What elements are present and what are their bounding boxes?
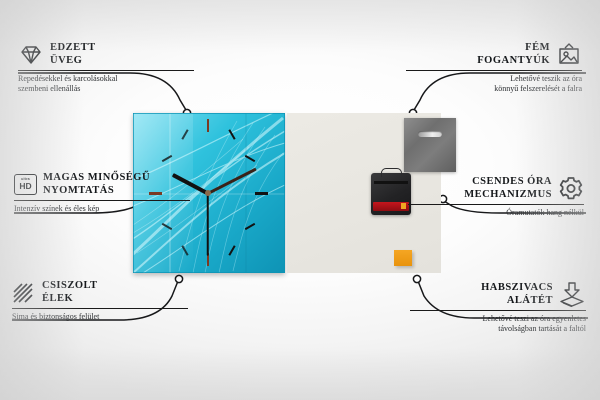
divider: [406, 70, 582, 71]
feature-desc-line1: Óramutatók hang nélkül: [408, 208, 584, 218]
divider: [18, 70, 194, 71]
feature-title-line1: CSISZOLT: [42, 280, 98, 293]
feature-silent-mechanism: CSENDES ÓRA MECHANIZMUS Óramutatók hang …: [408, 176, 584, 218]
feature-polished-edges: CSISZOLT ÉLEK Sima és biztonságos felüle…: [12, 280, 188, 322]
feature-tempered-glass: EDZETT ÜVEG Repedésekkel és karcolásokka…: [18, 42, 194, 94]
infographic-canvas: EDZETT ÜVEG Repedésekkel és karcolásokka…: [0, 0, 600, 400]
feature-title-line2: MECHANIZMUS: [464, 189, 552, 202]
feature-desc-line1: Intenzív színek és éles kép: [14, 204, 190, 214]
feature-foam-pad: HABSZIVACS ALÁTÉT Lehetővé teszi az óra …: [410, 282, 586, 334]
foam-pad-square: [394, 250, 412, 266]
hanger-slot: [418, 131, 442, 137]
feature-title-line2: ÉLEK: [42, 293, 98, 306]
feature-desc-line1: Sima és biztonságos felület: [12, 312, 188, 322]
feature-title-line1: HABSZIVACS: [481, 282, 553, 295]
polished-edge-icon: [12, 282, 36, 304]
clock-tick: [207, 119, 209, 132]
mechanism-strip: [374, 181, 408, 184]
feature-desc-line2: könnyű felszerelését a falra: [406, 84, 582, 94]
mechanism-label: [373, 202, 409, 211]
divider: [14, 200, 190, 201]
foam-pad-icon: [559, 282, 586, 307]
feature-title-line1: EDZETT: [50, 42, 96, 55]
clock-tick: [255, 192, 268, 195]
diamond-icon: [18, 45, 44, 65]
ultra-hd-icon: ultra HD: [14, 174, 37, 195]
picture-hanger-icon: [556, 43, 582, 67]
clock-mechanism-box: [371, 173, 411, 215]
gear-icon: [558, 176, 584, 201]
divider: [408, 204, 584, 205]
feature-title-line2: NYOMTATÁS: [43, 185, 150, 198]
feature-title-line1: CSENDES ÓRA: [464, 176, 552, 189]
mechanism-handle: [381, 168, 402, 177]
feature-desc-line1: Lehetővé teszik az óra: [406, 74, 582, 84]
divider: [410, 310, 586, 311]
clock-center-cap: [205, 190, 211, 196]
metal-hanger-plate: [404, 118, 456, 172]
divider: [12, 308, 188, 309]
clock-second-hand: [207, 193, 209, 255]
feature-title-line1: FÉM: [477, 42, 550, 55]
feature-desc-line2: távolságban tartását a faltól: [410, 324, 586, 334]
ultra-hd-large-text: HD: [19, 182, 31, 191]
feature-metal-hangers: FÉM FOGANTYÚK Lehetővé teszik az óra kön…: [406, 42, 582, 94]
feature-title-line2: FOGANTYÚK: [477, 55, 550, 68]
feature-desc-line1: Repedésekkel és karcolásokkal: [18, 74, 194, 84]
feature-title-line1: MAGAS MINŐSÉGŰ: [43, 172, 150, 185]
feature-title-line2: ÜVEG: [50, 55, 96, 68]
feature-high-quality-print: ultra HD MAGAS MINŐSÉGŰ NYOMTATÁS Intenz…: [14, 172, 190, 214]
feature-desc-line2: szembeni ellenállás: [18, 84, 194, 94]
feature-title-line2: ALÁTÉT: [481, 295, 553, 308]
feature-desc-line1: Lehetővé teszi az óra egyenletes: [410, 314, 586, 324]
